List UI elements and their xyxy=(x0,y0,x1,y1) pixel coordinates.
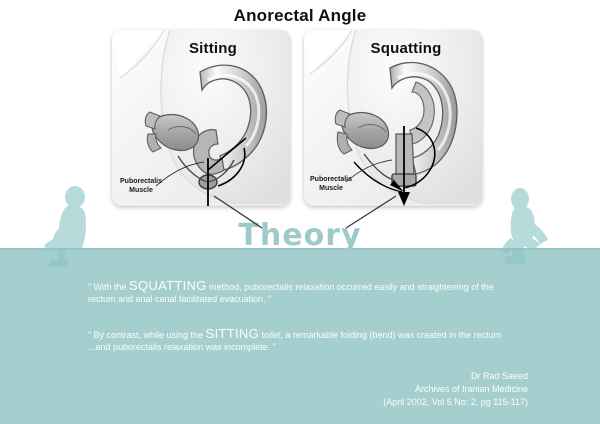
citation-author: Dr Rad Saeed xyxy=(383,370,528,383)
panel-label-squatting: Squatting xyxy=(304,40,482,57)
citation-journal: Archives of Iranian Medicine xyxy=(383,383,528,396)
quote-lead-text: By contrast, while using the xyxy=(94,330,204,340)
converging-arrows xyxy=(0,180,600,250)
citation-issue: (April 2002, Vol 5 No: 2, pg 115-117) xyxy=(383,396,528,409)
quote-close-mark: ” xyxy=(268,294,271,304)
quote-sitting: “ By contrast, while using the SITTING t… xyxy=(88,328,518,353)
citation-block: Dr Rad Saeed Archives of Iranian Medicin… xyxy=(383,370,528,409)
diagram-canvas: Anorectal Angle xyxy=(0,0,600,424)
quote-close-mark: ” xyxy=(273,342,276,352)
quote-emphasis-sitting: SITTING xyxy=(206,326,259,341)
quote-emphasis-squatting: SQUATTING xyxy=(129,278,207,293)
panel-label-sitting: Sitting xyxy=(112,40,290,57)
quote-lead-text: With the xyxy=(94,282,127,292)
quote-squatting: “ With the SQUATTING method, puborectali… xyxy=(88,280,518,305)
quote-open-mark: “ xyxy=(88,282,91,292)
page-title: Anorectal Angle xyxy=(0,6,600,26)
quote-open-mark: “ xyxy=(88,330,91,340)
